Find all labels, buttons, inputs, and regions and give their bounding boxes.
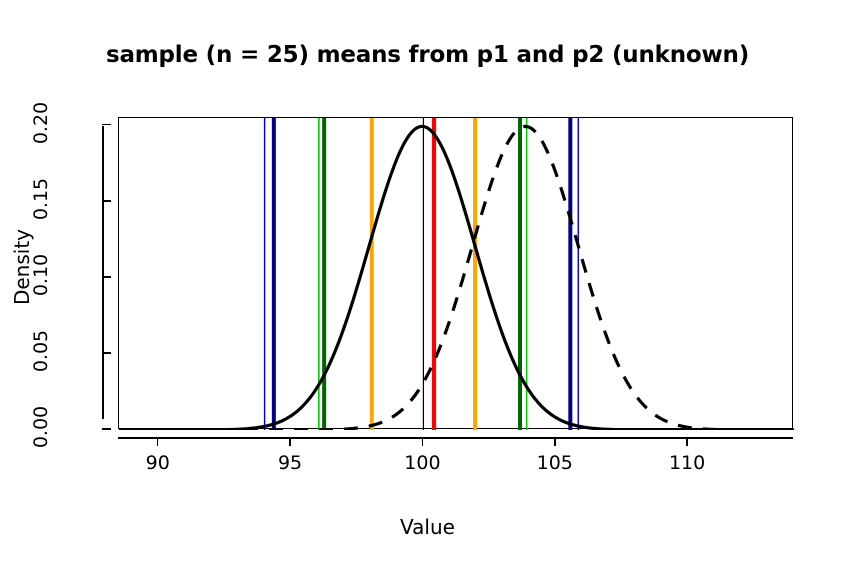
- vline-p1-ci-lower-thick: [272, 118, 276, 430]
- x-tick-90: [157, 437, 159, 446]
- chart-title: sample (n = 25) means from p1 and p2 (un…: [0, 42, 855, 68]
- density-curve-1: [119, 126, 794, 430]
- vline-p2-ci-upper-thick: [568, 118, 572, 430]
- vline-p2-ci-upper-thin: [578, 118, 579, 430]
- x-axis-label: Value: [0, 515, 855, 539]
- y-tick-0.15: [102, 200, 111, 202]
- density-curves-group: [119, 126, 794, 430]
- vline-p2-inner-upper-dark-green: [518, 118, 522, 430]
- y-axis-label: Density: [10, 167, 34, 367]
- x-tick-100: [422, 437, 424, 446]
- y-tick-0.00: [102, 428, 111, 430]
- y-tick-label-0.20: 0.20: [30, 77, 52, 169]
- vline-p1-sd-lower-orange: [370, 118, 374, 430]
- x-tick-label-100: 100: [387, 452, 457, 474]
- plot-canvas: [119, 118, 794, 430]
- y-tick-0.05: [102, 352, 111, 354]
- x-tick-105: [554, 437, 556, 446]
- x-tick-110: [686, 437, 688, 446]
- x-tick-label-90: 90: [123, 452, 193, 474]
- y-tick-0.20: [102, 124, 111, 126]
- reference-lines-group: [264, 118, 579, 430]
- plot-panel: [118, 117, 793, 429]
- y-axis-line: [102, 126, 104, 419]
- density-curve-2: [119, 126, 794, 430]
- vline-sample-mean-red: [432, 118, 436, 430]
- x-tick-label-95: 95: [255, 452, 325, 474]
- density-plot-figure: sample (n = 25) means from p1 and p2 (un…: [0, 0, 855, 577]
- x-tick-95: [289, 437, 291, 446]
- vline-p1-true-mean-black: [423, 118, 424, 430]
- x-tick-label-110: 110: [652, 452, 722, 474]
- vline-p1-inner-lower-dark-green: [322, 118, 326, 430]
- vline-p2-sd-upper-orange: [473, 118, 477, 430]
- x-axis-line: [118, 437, 793, 439]
- x-tick-label-105: 105: [520, 452, 590, 474]
- vline-p1-ci-lower-thin: [264, 118, 265, 430]
- y-tick-0.10: [102, 276, 111, 278]
